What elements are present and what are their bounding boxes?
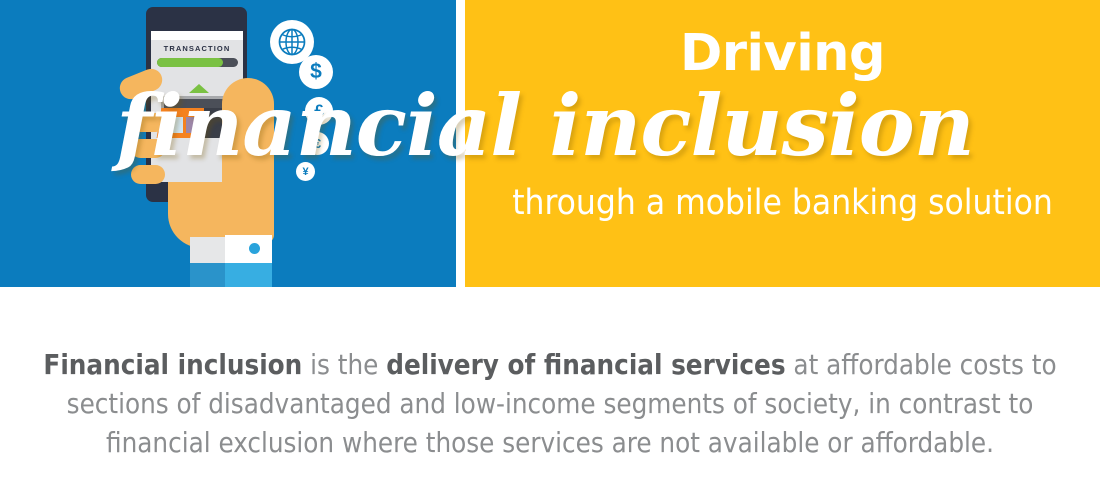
infographic-banner: TRANSACTION: [0, 0, 1100, 500]
title-subtitle: through a mobile banking solution: [465, 185, 1100, 223]
title-line-driving: Driving: [465, 28, 1100, 79]
shirt-cuff-button: [249, 243, 260, 254]
description-lead-strong: Financial inclusion: [43, 349, 302, 381]
description-mid-1: is the: [302, 349, 386, 381]
description-strong-2: delivery of financial services: [386, 349, 785, 381]
description-paragraph: Financial inclusion is the delivery of f…: [0, 346, 1100, 463]
title-line-financial-inclusion: financial inclusion: [0, 84, 1100, 168]
transaction-label: TRANSACTION: [151, 44, 243, 53]
transaction-progress-bar: [157, 58, 238, 67]
shirt-sleeve-left: [190, 263, 225, 287]
shirt-sleeve-right: [225, 263, 272, 287]
hero-banner: TRANSACTION: [0, 0, 1100, 287]
transaction-progress-fill: [157, 58, 223, 67]
shirt-cuff-left: [190, 237, 225, 263]
